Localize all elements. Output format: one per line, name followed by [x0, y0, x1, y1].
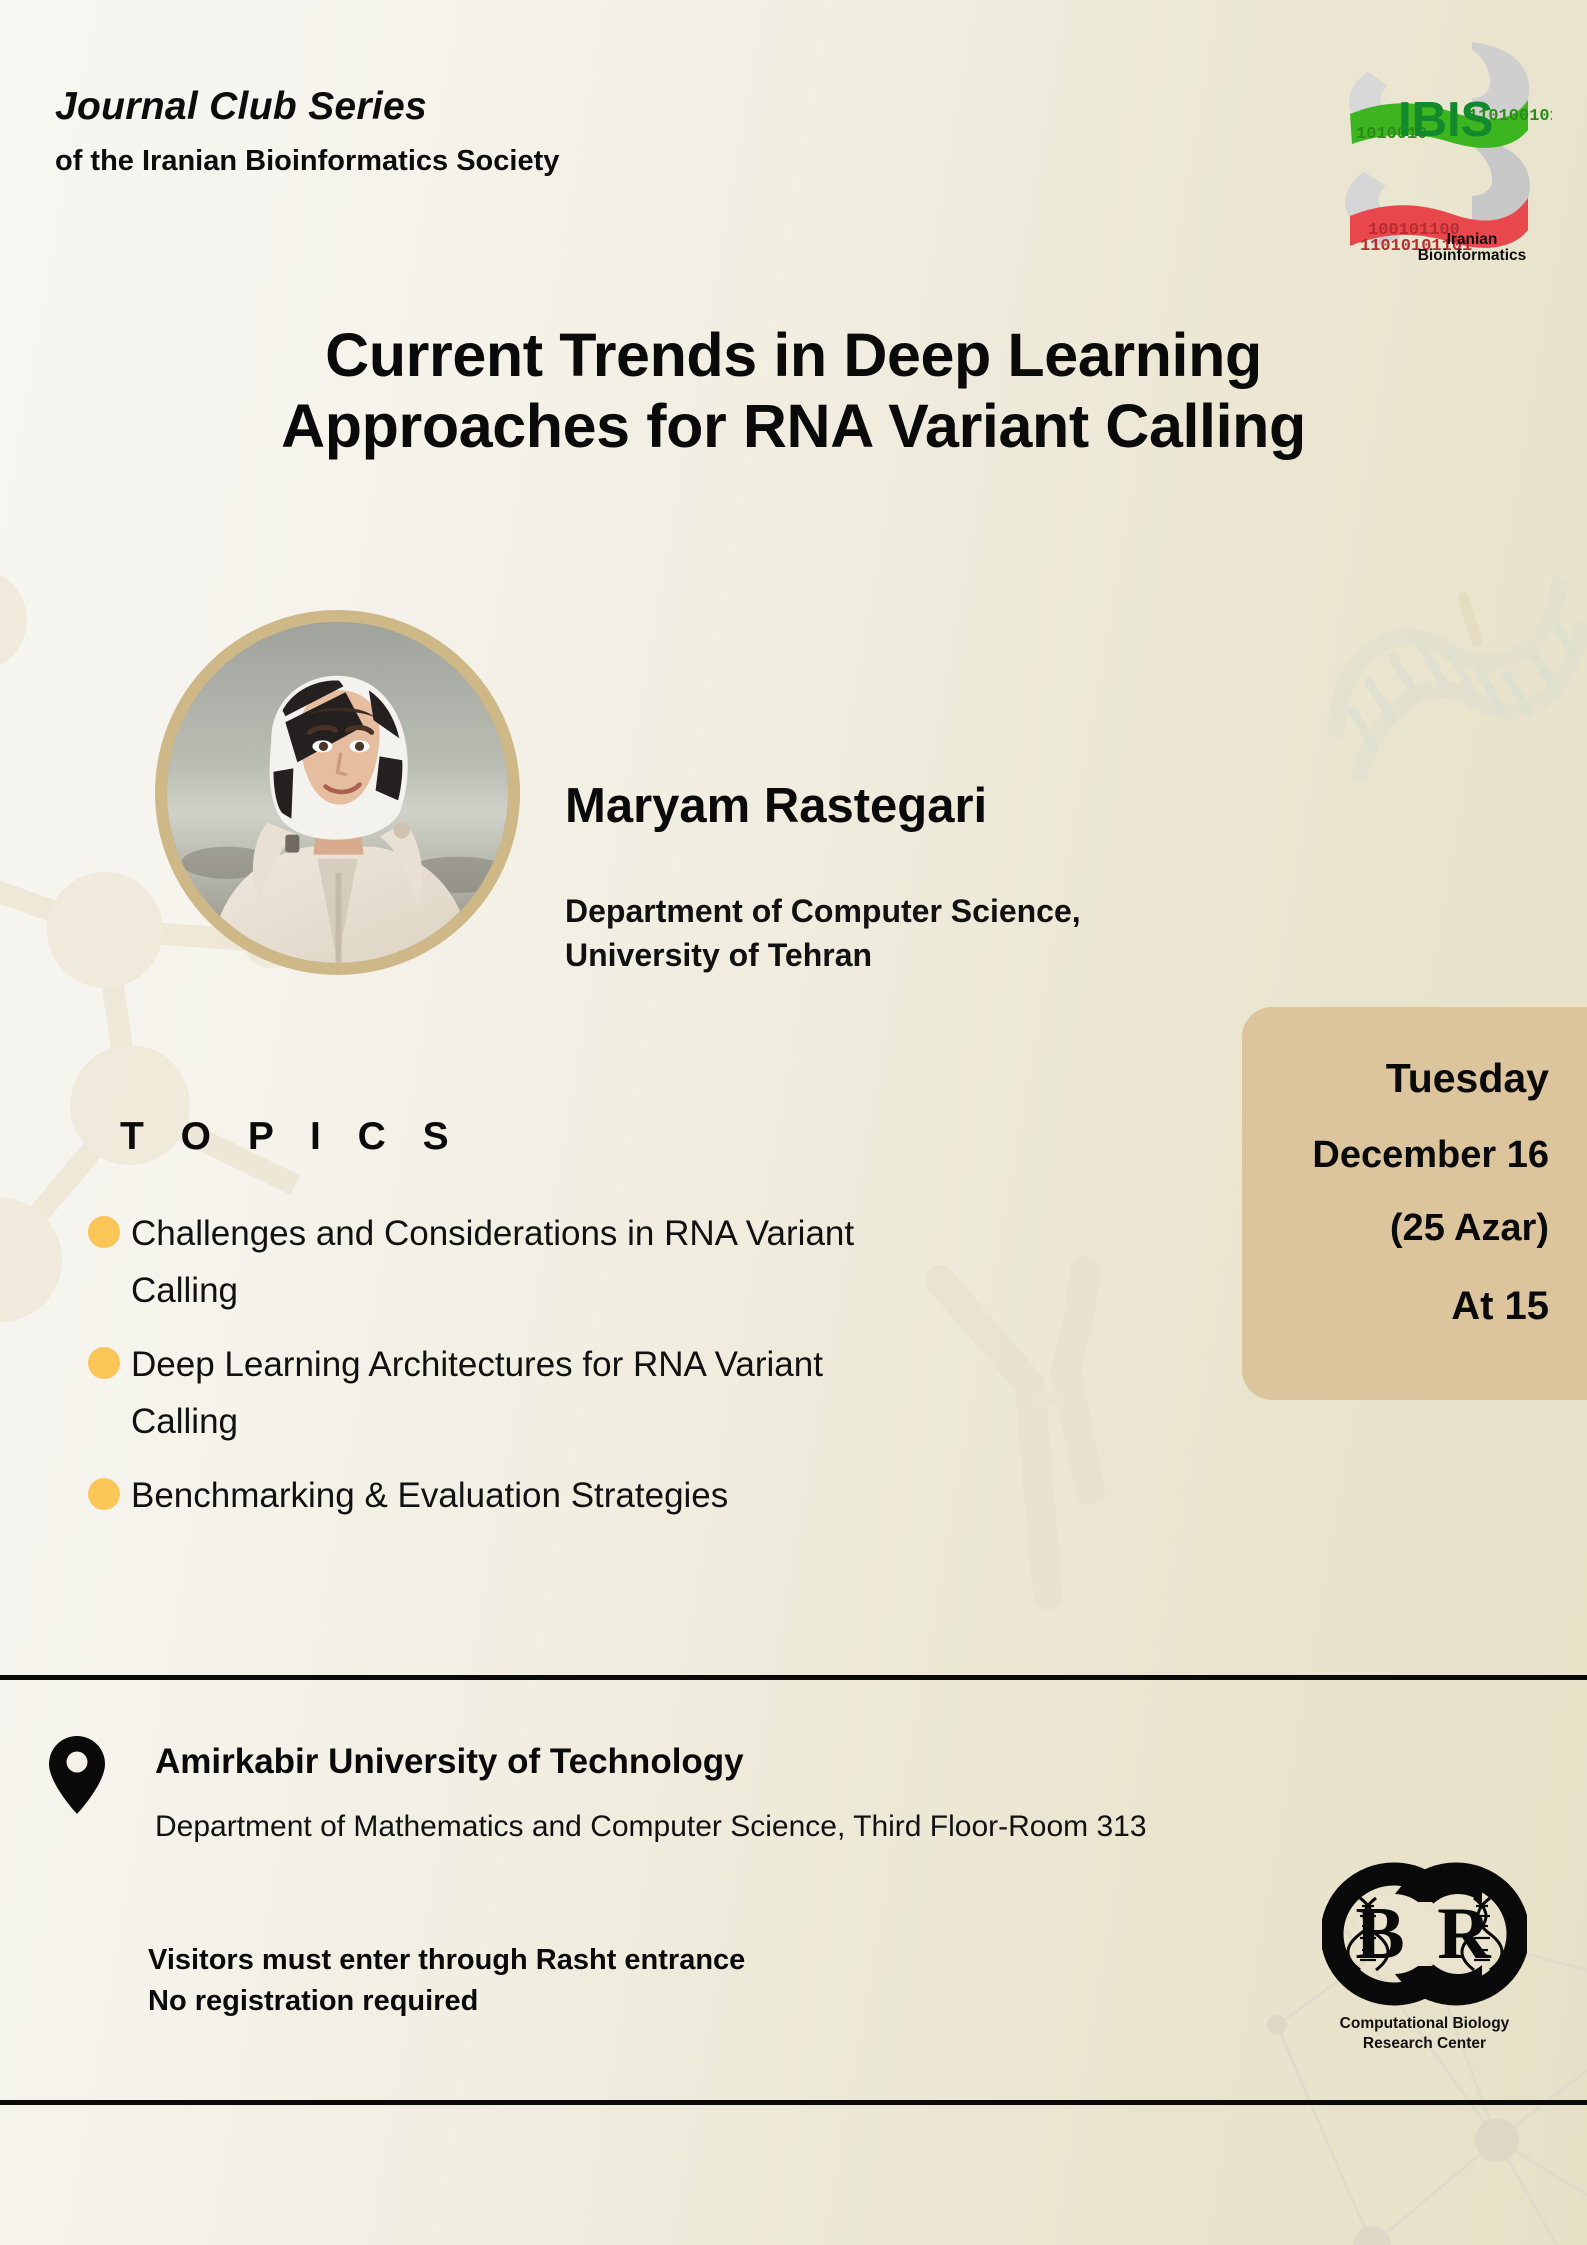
- list-item: Deep Learning Architectures for RNA Vari…: [88, 1336, 1158, 1451]
- series-title: Journal Club Series: [55, 85, 427, 129]
- event-date: December 16: [1242, 1134, 1549, 1177]
- topics-heading: T O P I C S: [120, 1115, 462, 1159]
- bullet-icon: [88, 1478, 120, 1510]
- cbrc-caption-line-2: Research Center: [1322, 2034, 1527, 2054]
- poster-canvas: Journal Club Series of the Iranian Bioin…: [0, 0, 1587, 2245]
- topic-label: Challenges and Considerations in RNA Var…: [131, 1205, 871, 1320]
- title-line-2: Approaches for RNA Variant Calling: [0, 391, 1587, 462]
- cbrc-caption-line-1: Computational Biology: [1322, 2014, 1527, 2034]
- speaker-portrait: [167, 622, 508, 963]
- poster-header: Journal Club Series of the Iranian Bioin…: [0, 0, 1587, 300]
- date-time-box: Tuesday December 16 (25 Azar) At 15: [1242, 1007, 1587, 1400]
- event-date-persian: (25 Azar): [1242, 1207, 1549, 1250]
- avatar: [155, 610, 520, 975]
- title-line-1: Current Trends in Deep Learning: [0, 320, 1587, 391]
- event-weekday: Tuesday: [1242, 1055, 1549, 1102]
- topic-label: Benchmarking & Evaluation Strategies: [131, 1467, 728, 1524]
- dna-helix-decoration-icon: [1297, 560, 1587, 890]
- cbrc-logo: B R Computational B: [1322, 1862, 1527, 2057]
- list-item: Challenges and Considerations in RNA Var…: [88, 1205, 1158, 1320]
- ibis-logo: 1010010 110100101 100101100 11010101101 …: [1322, 38, 1552, 263]
- speaker-affiliation: Department of Computer Science, Universi…: [565, 890, 1081, 977]
- venue-department: Department of Mathematics and Computer S…: [155, 1810, 1147, 1844]
- topics-list: Challenges and Considerations in RNA Var…: [88, 1205, 1158, 1540]
- series-subtitle: of the Iranian Bioinformatics Society: [55, 145, 559, 178]
- venue-note-1: Visitors must enter through Rasht entran…: [148, 1940, 745, 1981]
- speaker-name: Maryam Rastegari: [565, 778, 987, 834]
- divider: [0, 1675, 1587, 1680]
- cbrc-caption: Computational Biology Research Center: [1322, 2014, 1527, 2054]
- venue-name: Amirkabir University of Technology: [155, 1742, 744, 1782]
- bullet-icon: [88, 1216, 120, 1248]
- venue-note-2: No registration required: [148, 1981, 745, 2022]
- bullet-icon: [88, 1347, 120, 1379]
- speaker-affiliation-line-1: Department of Computer Science,: [565, 890, 1081, 934]
- event-time: At 15: [1242, 1284, 1549, 1329]
- venue-notes: Visitors must enter through Rasht entran…: [148, 1940, 745, 2022]
- ibis-caption-line1: Iranian: [1447, 231, 1498, 248]
- poster-footer: For more Information: ibis.org.ir: [0, 2105, 1587, 2245]
- ibis-caption-line2: Bioinformatics: [1418, 247, 1527, 263]
- speaker-affiliation-line-2: University of Tehran: [565, 934, 1081, 978]
- list-item: Benchmarking & Evaluation Strategies: [88, 1467, 1158, 1524]
- ibis-acronym: IBIS: [1398, 93, 1493, 147]
- topic-label: Deep Learning Architectures for RNA Vari…: [131, 1336, 871, 1451]
- page-title: Current Trends in Deep Learning Approach…: [0, 320, 1587, 463]
- location-pin-icon: [48, 1735, 106, 1815]
